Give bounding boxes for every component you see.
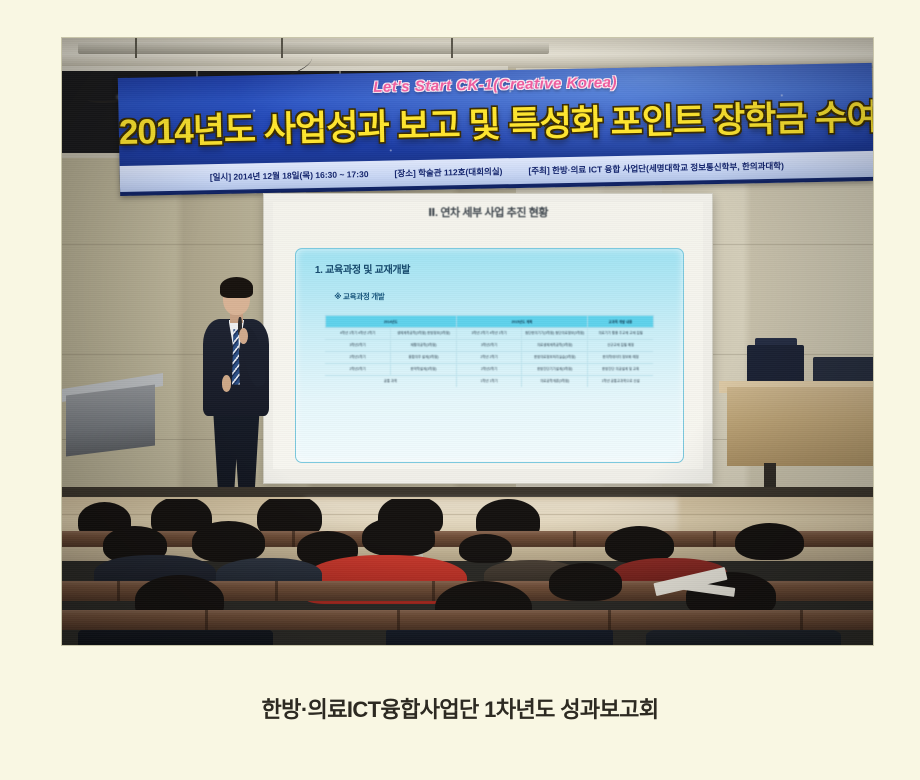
table-cell: 3학년 2학기 4학년 1학기 [456,327,522,339]
slide-table: 2014년도 2015년도 계획 교과목 개발 내용 4학년 1학기 4학년 2… [325,315,654,387]
audience-head [192,521,265,562]
ceiling-rod [135,38,137,58]
slide-section-title: Ⅱ. 연차 세부 사업 추진 현황 [273,204,703,220]
photo-caption: 한방·의료ICT융합사업단 1차년도 성과보고회 [0,692,920,724]
table-row: 2학년1학기 융합의무 설계(3학점) 2학년 2학기 한방의료정보처리실습(3… [325,351,653,363]
lectern [66,385,155,457]
slide-subheading: ※ 교육과정 개발 [334,291,384,302]
table-cell: 재활의공학(3학점) [391,339,457,351]
table-cell: 융합의무 설계(3학점) [391,351,457,363]
ceiling-rod [451,38,453,58]
table-cell: 2학년2학기 [325,363,391,375]
banner-info-datetime: [일시] 2014년 12월 18일(목) 16:30 ~ 17:30 [209,168,368,183]
audience-head [549,563,622,601]
table-cell: 의료생체계측공학(3학점) [522,339,588,351]
seat-divider [432,581,435,601]
table-cell: 3학년2학기 [456,339,522,351]
seat-row [62,610,873,630]
seat-divider [608,610,611,630]
slide-heading: 1. 교육과정 및 교재개발 [315,261,410,276]
audience-head [362,517,435,556]
table-cell: 2학년2학기 [456,363,522,375]
table-cell: 2학년1학기 [325,351,391,363]
presenter [188,281,285,512]
slide-table-header-cell: 교과목 개발 내용 [588,315,654,327]
audience-head [459,534,512,563]
ceiling-beam [78,42,548,54]
audience-head [735,523,804,561]
banner-info-host: [주최] 한방·의료 ICT 융합 사업단(세명대학교 정보통신학부, 한의과대… [528,160,784,177]
table-cell: 신규교재 집필 예정 [588,339,654,351]
seat-divider [397,610,400,630]
seated-audience [62,499,873,645]
table-cell: 3학년2학기 [325,339,391,351]
table-cell: 2학년 2학기 [456,351,522,363]
glasses-icon [224,295,249,301]
table-cell: 한방의료정보처리실습(3학점) [522,351,588,363]
table-cell: 1학년 1학기 [456,375,522,387]
slide-table-header-row: 2014년도 2015년도 계획 교과목 개발 내용 [325,315,653,327]
slide-table-body: 4학년 1학기 4학년 2학기 생체계측공학(3학점) 한방정보(3학점) 3학… [325,327,653,387]
event-banner: Let's Start CK-1(Creative Korea) 2014년도 … [118,63,873,196]
table-cell: 한의학데이터 정보화 예정 [588,351,654,363]
seat-divider [117,581,120,601]
seat-divider [292,531,295,547]
table-row: 3학년2학기 재활의공학(3학점) 3학년2학기 의료생체계측공학(3학점) 신… [325,339,653,351]
page-root: Let's Start CK-1(Creative Korea) 2014년도 … [0,0,920,780]
seat-divider [573,531,576,547]
table-cell: 한방진단 의공설계 및 교육 [588,363,654,375]
presenter-hand [222,375,232,391]
table-cell: 의료기기 활용 주교재 교재 집필 [588,327,654,339]
banner-info-place: [장소] 학술관 112호(대회의실) [394,165,502,179]
slide-table-header-cell: 2014년도 [325,315,456,327]
seat-divider [800,610,803,630]
table-cell: 한방진단기기설계(3학점) [522,363,588,375]
table-cell: 첨단한의기기(3학점) 첨단의료정보(3학점) [522,327,588,339]
seat-divider [713,531,716,547]
seminar-auditorium-photo: Let's Start CK-1(Creative Korea) 2014년도 … [62,38,873,645]
table-cell: 4학년 1학기 4학년 2학기 [325,327,391,339]
projection-screen: Ⅱ. 연차 세부 사업 추진 현황 1. 교육과정 및 교재개발 ※ 교육과정 … [263,193,713,484]
presentation-slide: Ⅱ. 연차 세부 사업 추진 현황 1. 교육과정 및 교재개발 ※ 교육과정 … [273,202,703,468]
table-cell: 의료공학개론(3학점) [522,375,588,387]
stage-edge [62,487,873,497]
slide-content-panel: 1. 교육과정 및 교재개발 ※ 교육과정 개발 2014년도 2015년도 계… [295,248,684,463]
table-cell: 한약학설계(3학점) [391,363,457,375]
table-row: 공통 과목 1학년 1학기 의료공학개론(3학점) 1학년 공통교과목으로 신설 [325,375,653,387]
seat-divider [275,581,278,601]
table-row: 2학년2학기 한약학설계(3학점) 2학년2학기 한방진단기기설계(3학점) 한… [325,363,653,375]
table-cell: 1학년 공통교과목으로 신설 [588,375,654,387]
table-cell: 생체계측공학(3학점) 한방정보(3학점) [391,327,457,339]
photo-frame: Let's Start CK-1(Creative Korea) 2014년도 … [62,38,873,645]
seat-divider [205,610,208,630]
slide-table-header-cell: 2015년도 계획 [456,315,587,327]
equipment-table [727,387,873,466]
table-cell: 공통 과목 [325,375,456,387]
table-row: 4학년 1학기 4학년 2학기 생체계측공학(3학점) 한방정보(3학점) 3학… [325,327,653,339]
